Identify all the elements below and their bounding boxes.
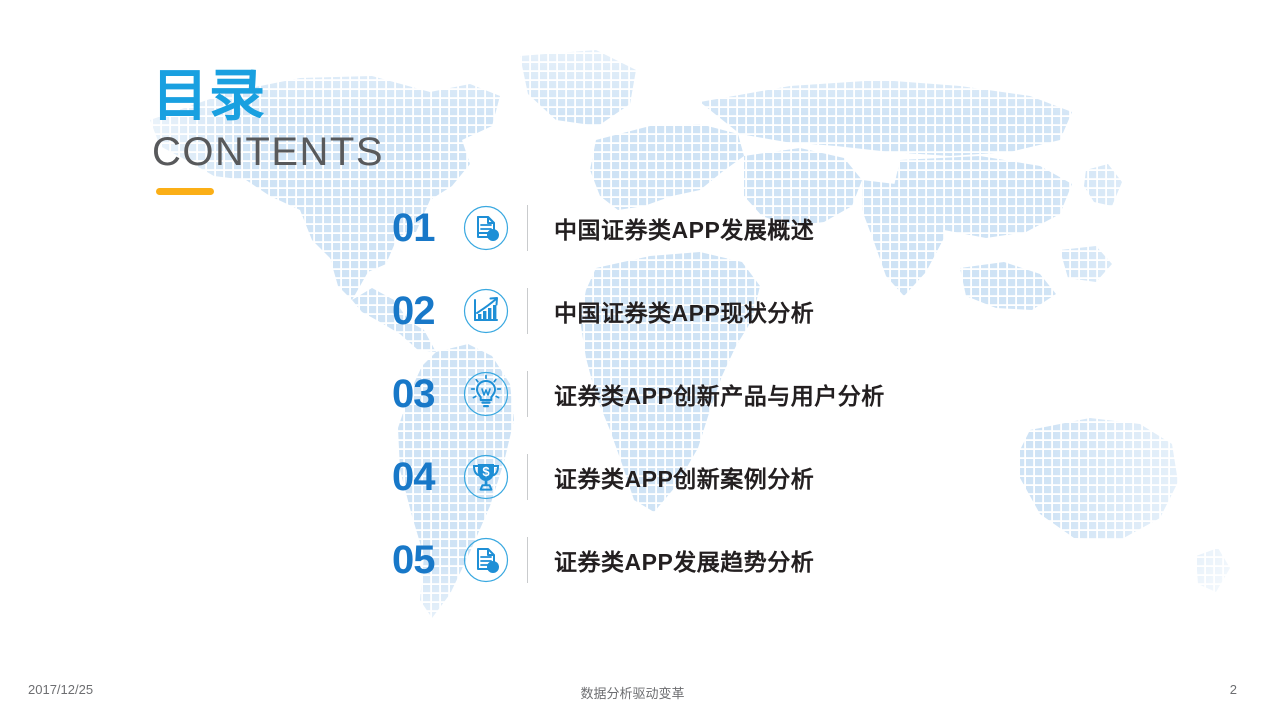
slide-canvas: 目录 CONTENTS 01 中国证券类APP发展概述: [0, 0, 1265, 712]
svg-text:$: $: [482, 464, 490, 479]
title-underline-rule: [156, 188, 214, 195]
toc-divider: [527, 537, 528, 583]
page-title-cn: 目录: [152, 68, 384, 124]
document-report-icon: [462, 204, 510, 252]
trophy-dollar-icon: $: [462, 453, 510, 501]
slide-footer: 2017/12/25 数据分析驱动变革 2: [0, 668, 1265, 712]
toc-label: 中国证券类APP发展概述: [554, 211, 1152, 245]
toc-item-01[interactable]: 01 中国证券类APP发展概述: [392, 186, 1152, 269]
toc-item-02[interactable]: 02 中国证券类APP现状分析: [392, 269, 1152, 352]
toc-item-05[interactable]: 05 证券类APP发展趋势分析: [392, 518, 1152, 601]
toc-label: 中国证券类APP现状分析: [554, 294, 1152, 328]
toc-number: 05: [392, 540, 458, 580]
toc-divider: [527, 288, 528, 334]
toc-item-04[interactable]: 04 $ 证券类APP创新案例分析: [392, 435, 1152, 518]
lightbulb-idea-icon: [462, 370, 510, 418]
footer-page-number: 2: [1230, 682, 1237, 697]
toc-item-03[interactable]: 03: [392, 352, 1152, 435]
toc-label: 证券类APP创新产品与用户分析: [554, 377, 1152, 411]
bar-chart-growth-icon: [462, 287, 510, 335]
toc-number: 01: [392, 208, 458, 248]
document-report-icon: [462, 536, 510, 584]
toc-divider: [527, 371, 528, 417]
toc-number: 02: [392, 291, 458, 331]
toc-divider: [527, 205, 528, 251]
page-title-en: CONTENTS: [152, 132, 384, 172]
slide-heading: 目录 CONTENTS: [152, 68, 384, 195]
toc-divider: [527, 454, 528, 500]
table-of-contents: 01 中国证券类APP发展概述 02: [392, 186, 1152, 601]
toc-label: 证券类APP发展趋势分析: [554, 543, 1152, 577]
toc-label: 证券类APP创新案例分析: [554, 460, 1152, 494]
footer-tagline: 数据分析驱动变革: [0, 683, 1265, 702]
toc-number: 03: [392, 374, 458, 414]
toc-number: 04: [392, 457, 458, 497]
